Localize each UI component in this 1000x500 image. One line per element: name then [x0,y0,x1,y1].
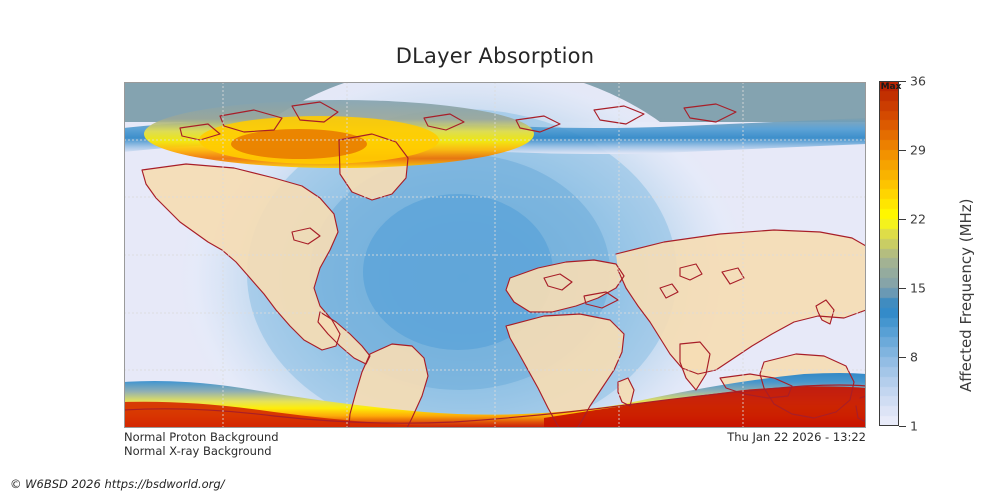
colorbar-tick-mark [899,288,906,289]
proton-background-note: Normal Proton Background [124,430,279,444]
colorbar-tick-mark [899,150,906,151]
dlayer-absorption-page: DLayer Absorption [0,0,1000,500]
colorbar-tick-label: 22 [910,212,926,227]
colorbar-tick-label: 29 [910,143,926,158]
colorbar-tick-label: 36 [910,74,926,89]
map-svg [124,82,866,428]
colorbar [879,81,899,426]
colorbar-tick-mark [899,426,906,427]
colorbar-tick-mark [899,357,906,358]
absorption-map [124,82,866,428]
colorbar-max-label: Max [880,82,902,93]
colorbar-tick-mark [899,219,906,220]
colorbar-tick-mark [899,81,906,82]
page-title: DLayer Absorption [0,44,990,68]
colorbar-tick-label: 1 [910,419,918,434]
credit-label: © W6BSD 2026 https://bsdworld.org/ [10,477,225,491]
xray-background-note: Normal X-ray Background [124,444,272,458]
timestamp-label: Thu Jan 22 2026 - 13:22 [727,430,866,444]
colorbar-gradient [879,81,899,426]
colorbar-tick-label: 15 [910,281,926,296]
colorbar-tick-label: 8 [910,350,918,365]
colorbar-axis-label: Affected Frequency (MHz) [957,198,975,392]
